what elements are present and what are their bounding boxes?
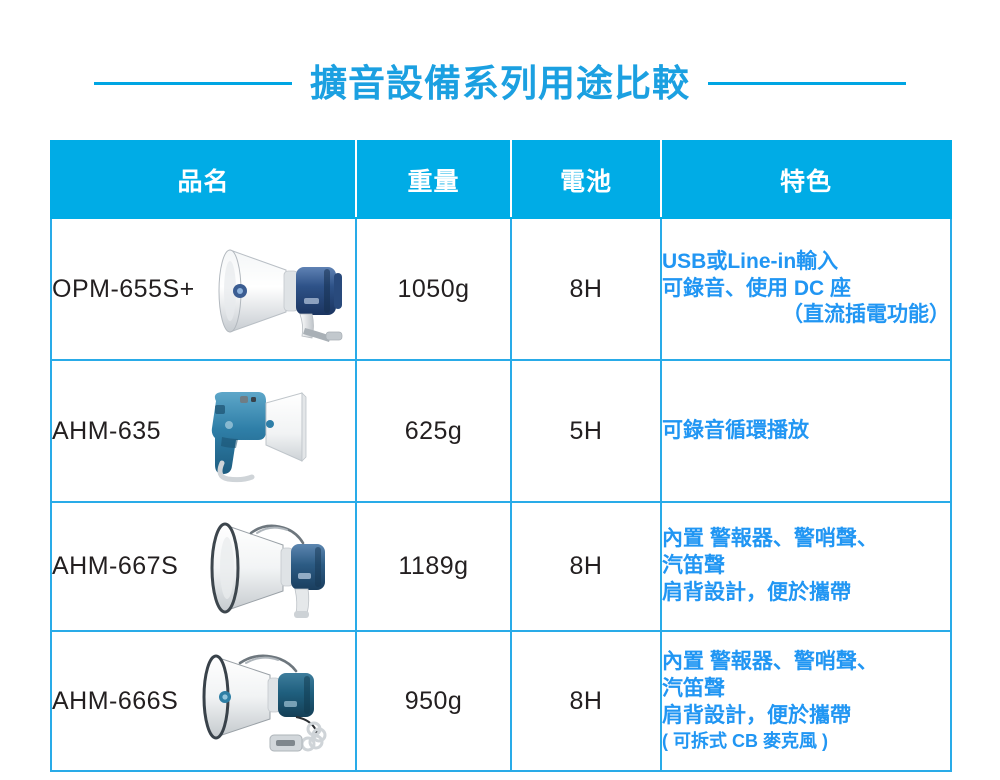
title-rule-left (94, 82, 292, 85)
megaphone-ahm666s-icon (178, 632, 355, 770)
weight-value: 1050g (356, 218, 511, 360)
battery-value: 8H (511, 218, 661, 360)
megaphone-ahm635-icon (161, 361, 355, 501)
product-name: OPM-655S+ (52, 275, 195, 304)
features-cell: USB或Line-in輸入 可錄音、使用 DC 座 （直流插電功能） (661, 218, 951, 360)
megaphone-opm655s-icon (195, 219, 355, 359)
battery-value: 8H (511, 502, 661, 631)
battery-value: 5H (511, 360, 661, 502)
comparison-table-wrap: 品名 重量 電池 特色 OPM-655S+ (50, 140, 950, 772)
column-header-weight: 重量 (356, 141, 511, 218)
feature-line: 可錄音循環播放 (662, 418, 950, 445)
product-name: AHM-667S (52, 552, 178, 581)
weight-value: 625g (356, 360, 511, 502)
table-header-row: 品名 重量 電池 特色 (51, 141, 951, 218)
page-title: 擴音設備系列用途比較 (310, 65, 690, 102)
product-cell: OPM-655S+ (51, 218, 356, 360)
feature-line: 內置 警報器、警哨聲、 (662, 649, 950, 676)
weight-value: 1189g (356, 502, 511, 631)
table-row: AHM-666S (51, 631, 951, 771)
product-cell: AHM-635 (51, 360, 356, 502)
page-title-block: 擴音設備系列用途比較 (0, 52, 1000, 114)
feature-line: 內置 警報器、警哨聲、 (662, 526, 950, 553)
column-header-name: 品名 (51, 141, 356, 218)
feature-line: 汽笛聲 (662, 553, 950, 580)
weight-value: 950g (356, 631, 511, 771)
feature-line: USB或Line-in輸入 (662, 249, 950, 276)
feature-line: 汽笛聲 (662, 676, 950, 703)
product-cell: AHM-667S (51, 502, 356, 631)
feature-line: 可錄音、使用 DC 座 (662, 276, 950, 303)
features-cell: 可錄音循環播放 (661, 360, 951, 502)
features-cell: 內置 警報器、警哨聲、 汽笛聲 肩背設計，便於攜帶 (661, 502, 951, 631)
feature-line: 肩背設計，便於攜帶 (662, 703, 950, 730)
title-rule-right (708, 82, 906, 85)
column-header-features: 特色 (661, 141, 951, 218)
feature-line: 肩背設計，便於攜帶 (662, 580, 950, 607)
table-row: OPM-655S+ (51, 218, 951, 360)
feature-line: ( 可拆式 CB 麥克風 ) (662, 730, 950, 753)
megaphone-ahm667s-icon (178, 503, 355, 630)
comparison-table: 品名 重量 電池 特色 OPM-655S+ (50, 140, 952, 772)
feature-line: （直流插電功能） (662, 302, 950, 329)
product-name: AHM-666S (52, 687, 178, 716)
table-row: AHM-667S (51, 502, 951, 631)
column-header-battery: 電池 (511, 141, 661, 218)
battery-value: 8H (511, 631, 661, 771)
features-cell: 內置 警報器、警哨聲、 汽笛聲 肩背設計，便於攜帶 ( 可拆式 CB 麥克風 ) (661, 631, 951, 771)
table-row: AHM-635 (51, 360, 951, 502)
product-name: AHM-635 (52, 417, 161, 446)
product-cell: AHM-666S (51, 631, 356, 771)
